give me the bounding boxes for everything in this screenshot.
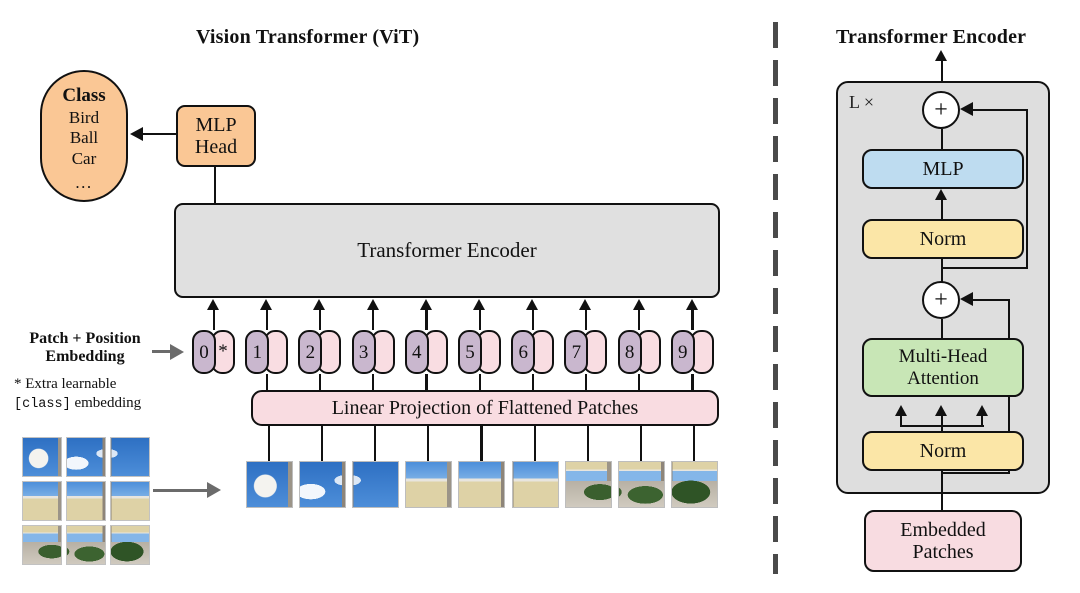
norm-upper-to-mlp-arrowhead [935,189,947,200]
transformer-encoder-bar-label: Transformer Encoder [357,239,536,263]
source-patch-8 [66,525,106,565]
token-embedding-chip-7 [583,330,607,374]
token-0: 0* [192,330,236,374]
panel-divider [773,22,778,574]
mha-input-fanout-bus [900,425,984,427]
right-panel-title: Transformer Encoder [836,26,1026,49]
embedding-caption-line2: Embedding [10,348,160,366]
patch-to-projection-line-6 [534,426,536,461]
residual-top-tap [941,267,1028,269]
token-index-chip-1: 1 [245,330,269,374]
token-1: 1 [245,330,289,374]
token-to-encoder-arrowhead-4 [420,299,432,310]
token-index-chip-8: 8 [618,330,642,374]
norm-upper-to-mlp-line [941,199,943,219]
token-index-chip-3: 3 [352,330,376,374]
token-embedding-chip-2 [317,330,341,374]
embedding-caption-arrowhead [170,344,184,360]
token-index-chip-0: 0 [192,330,216,374]
norm-lower-to-embedded-line [941,471,943,511]
class-token-star-marker: * [211,330,235,374]
source-patch-3 [110,437,150,477]
patch-to-projection-line-1 [268,426,270,461]
mha-block-line1: Multi-Head [899,346,988,367]
token-index-chip-7: 7 [564,330,588,374]
token-to-encoder-line-0 [213,310,215,330]
residual-bottom-tap [941,472,1010,474]
extra-learnable-note-suffix: embedding [74,395,141,411]
source-grid-to-patches-line [153,489,209,492]
class-output-pill: Class Bird Ball Car ... [40,70,128,202]
token-embedding-chip-5 [477,330,501,374]
embedding-caption-line1: Patch + Position [10,330,160,348]
image-patch-6 [512,461,559,508]
source-patch-5 [66,481,106,521]
token-2: 2 [298,330,342,374]
source-patch-4 [22,481,62,521]
token-embedding-chip-3 [371,330,395,374]
add-bottom-to-mha-line [941,319,943,339]
linear-projection-block: Linear Projection of Flattened Patches [251,390,719,426]
token-index-chip-2: 2 [298,330,322,374]
patch-to-projection-line-9 [693,426,695,461]
class-pill-ellipsis: ... [75,173,92,193]
class-token-mono-label: [class] [14,397,71,412]
mha-block-line2: Attention [907,368,979,389]
mlp-head-to-class-arrowhead [130,127,143,141]
token-index-chip-4: 4 [405,330,429,374]
patch-to-projection-line-2 [321,426,323,461]
image-patch-8 [618,461,665,508]
residual-top-vertical [1026,109,1028,269]
patch-to-projection-line-3 [374,426,376,461]
patch-position-embedding-caption: Patch + Position Embedding [10,330,160,367]
source-grid-to-patches-arrowhead [207,482,221,498]
token-embedding-chip-6 [530,330,554,374]
image-patch-1 [246,461,293,508]
token-to-encoder-line-3 [372,310,374,330]
token-embedding-chip-8 [637,330,661,374]
token-embedding-chip-4 [424,330,448,374]
token-8: 8 [618,330,662,374]
mlp-block-label: MLP [922,158,963,180]
residual-top-horizontal [985,109,1028,111]
token-index-chip-9: 9 [671,330,695,374]
norm-lower-block-label: Norm [920,440,967,462]
token-to-encoder-line-7 [585,310,587,330]
mlp-head-to-class-line [142,133,176,135]
extra-learnable-note-line2: [class] embedding [14,394,184,414]
residual-bottom-horizontal [985,299,1010,301]
patch-to-projection-line-7 [587,426,589,461]
token-6: 6 [511,330,555,374]
class-pill-item-ball: Ball [70,128,98,148]
encoder-repeat-count-label: L × [849,92,874,113]
source-image-grid [22,437,152,567]
residual-bottom-arrow-stem [971,299,987,301]
token-to-encoder-arrowhead-2 [313,299,325,310]
mlp-head-line1: MLP [195,114,236,136]
token-to-encoder-arrowhead-6 [526,299,538,310]
embedded-patches-line2: Patches [912,541,973,563]
add-top-to-mlp-line [941,129,943,150]
patch-to-projection-line-8 [640,426,642,461]
token-3: 3 [352,330,396,374]
token-to-encoder-arrowhead-9 [686,299,698,310]
mha-input-stem-k [941,415,943,431]
transformer-encoder-bar: Transformer Encoder [174,203,720,298]
token-7: 7 [564,330,608,374]
norm-upper-block-label: Norm [920,228,967,250]
token-to-encoder-arrowhead-7 [579,299,591,310]
token-index-chip-6: 6 [511,330,535,374]
embedded-patches-block: Embedded Patches [864,510,1022,572]
token-to-encoder-arrowhead-0 [207,299,219,310]
token-embedding-chip-0 [211,330,235,374]
token-4: 4 [405,330,449,374]
token-to-encoder-line-8 [638,310,640,330]
image-patch-4 [405,461,452,508]
norm-lower-block: Norm [862,431,1024,471]
mlp-block: MLP [862,149,1024,189]
token-to-encoder-line-4 [425,310,427,330]
source-patch-7 [22,525,62,565]
token-embedding-chip-9 [690,330,714,374]
token-to-encoder-line-5 [479,310,481,330]
residual-top-arrow-stem [971,109,987,111]
token-index-chip-5: 5 [458,330,482,374]
extra-learnable-note: * Extra learnable [class] embedding [14,375,184,414]
encoder-output-arrowhead [935,50,947,61]
embedded-patches-line1: Embedded [900,519,986,541]
token-to-encoder-arrowhead-8 [633,299,645,310]
token-to-encoder-arrowhead-5 [473,299,485,310]
image-patch-3 [352,461,399,508]
norm-upper-block: Norm [862,219,1024,259]
source-patch-9 [110,525,150,565]
token-to-encoder-line-2 [319,310,321,330]
token-embedding-chip-1 [264,330,288,374]
token-to-encoder-arrowhead-1 [260,299,272,310]
residual-add-bottom: + [922,281,960,319]
residual-add-top-label: + [934,98,948,122]
left-panel-title: Vision Transformer (ViT) [196,26,419,49]
token-to-encoder-line-6 [532,310,534,330]
mlp-head-block: MLP Head [176,105,256,167]
linear-projection-label: Linear Projection of Flattened Patches [332,397,639,419]
token-to-encoder-arrowhead-3 [367,299,379,310]
mlp-head-line2: Head [195,136,237,158]
patch-to-projection-line-5 [480,426,482,461]
image-patch-9 [671,461,718,508]
token-5: 5 [458,330,502,374]
source-patch-6 [110,481,150,521]
extra-learnable-note-line1: * Extra learnable [14,375,184,394]
patch-to-projection-line-4 [427,426,429,461]
class-pill-item-car: Car [72,149,97,169]
residual-add-bottom-label: + [934,288,948,312]
class-pill-item-bird: Bird [69,108,99,128]
source-patch-2 [66,437,106,477]
embedding-caption-arrow-line [152,350,172,353]
token-to-encoder-line-1 [266,310,268,330]
multi-head-attention-block: Multi-Head Attention [862,338,1024,397]
token-to-encoder-line-9 [691,310,693,330]
residual-add-top: + [922,91,960,129]
source-patch-1 [22,437,62,477]
norm-upper-to-add-bottom-line [941,259,943,282]
image-patch-5 [458,461,505,508]
mlp-head-to-encoder-line [214,167,216,203]
class-pill-header: Class [62,85,105,107]
image-patch-2 [299,461,346,508]
token-9: 9 [671,330,715,374]
image-patch-7 [565,461,612,508]
